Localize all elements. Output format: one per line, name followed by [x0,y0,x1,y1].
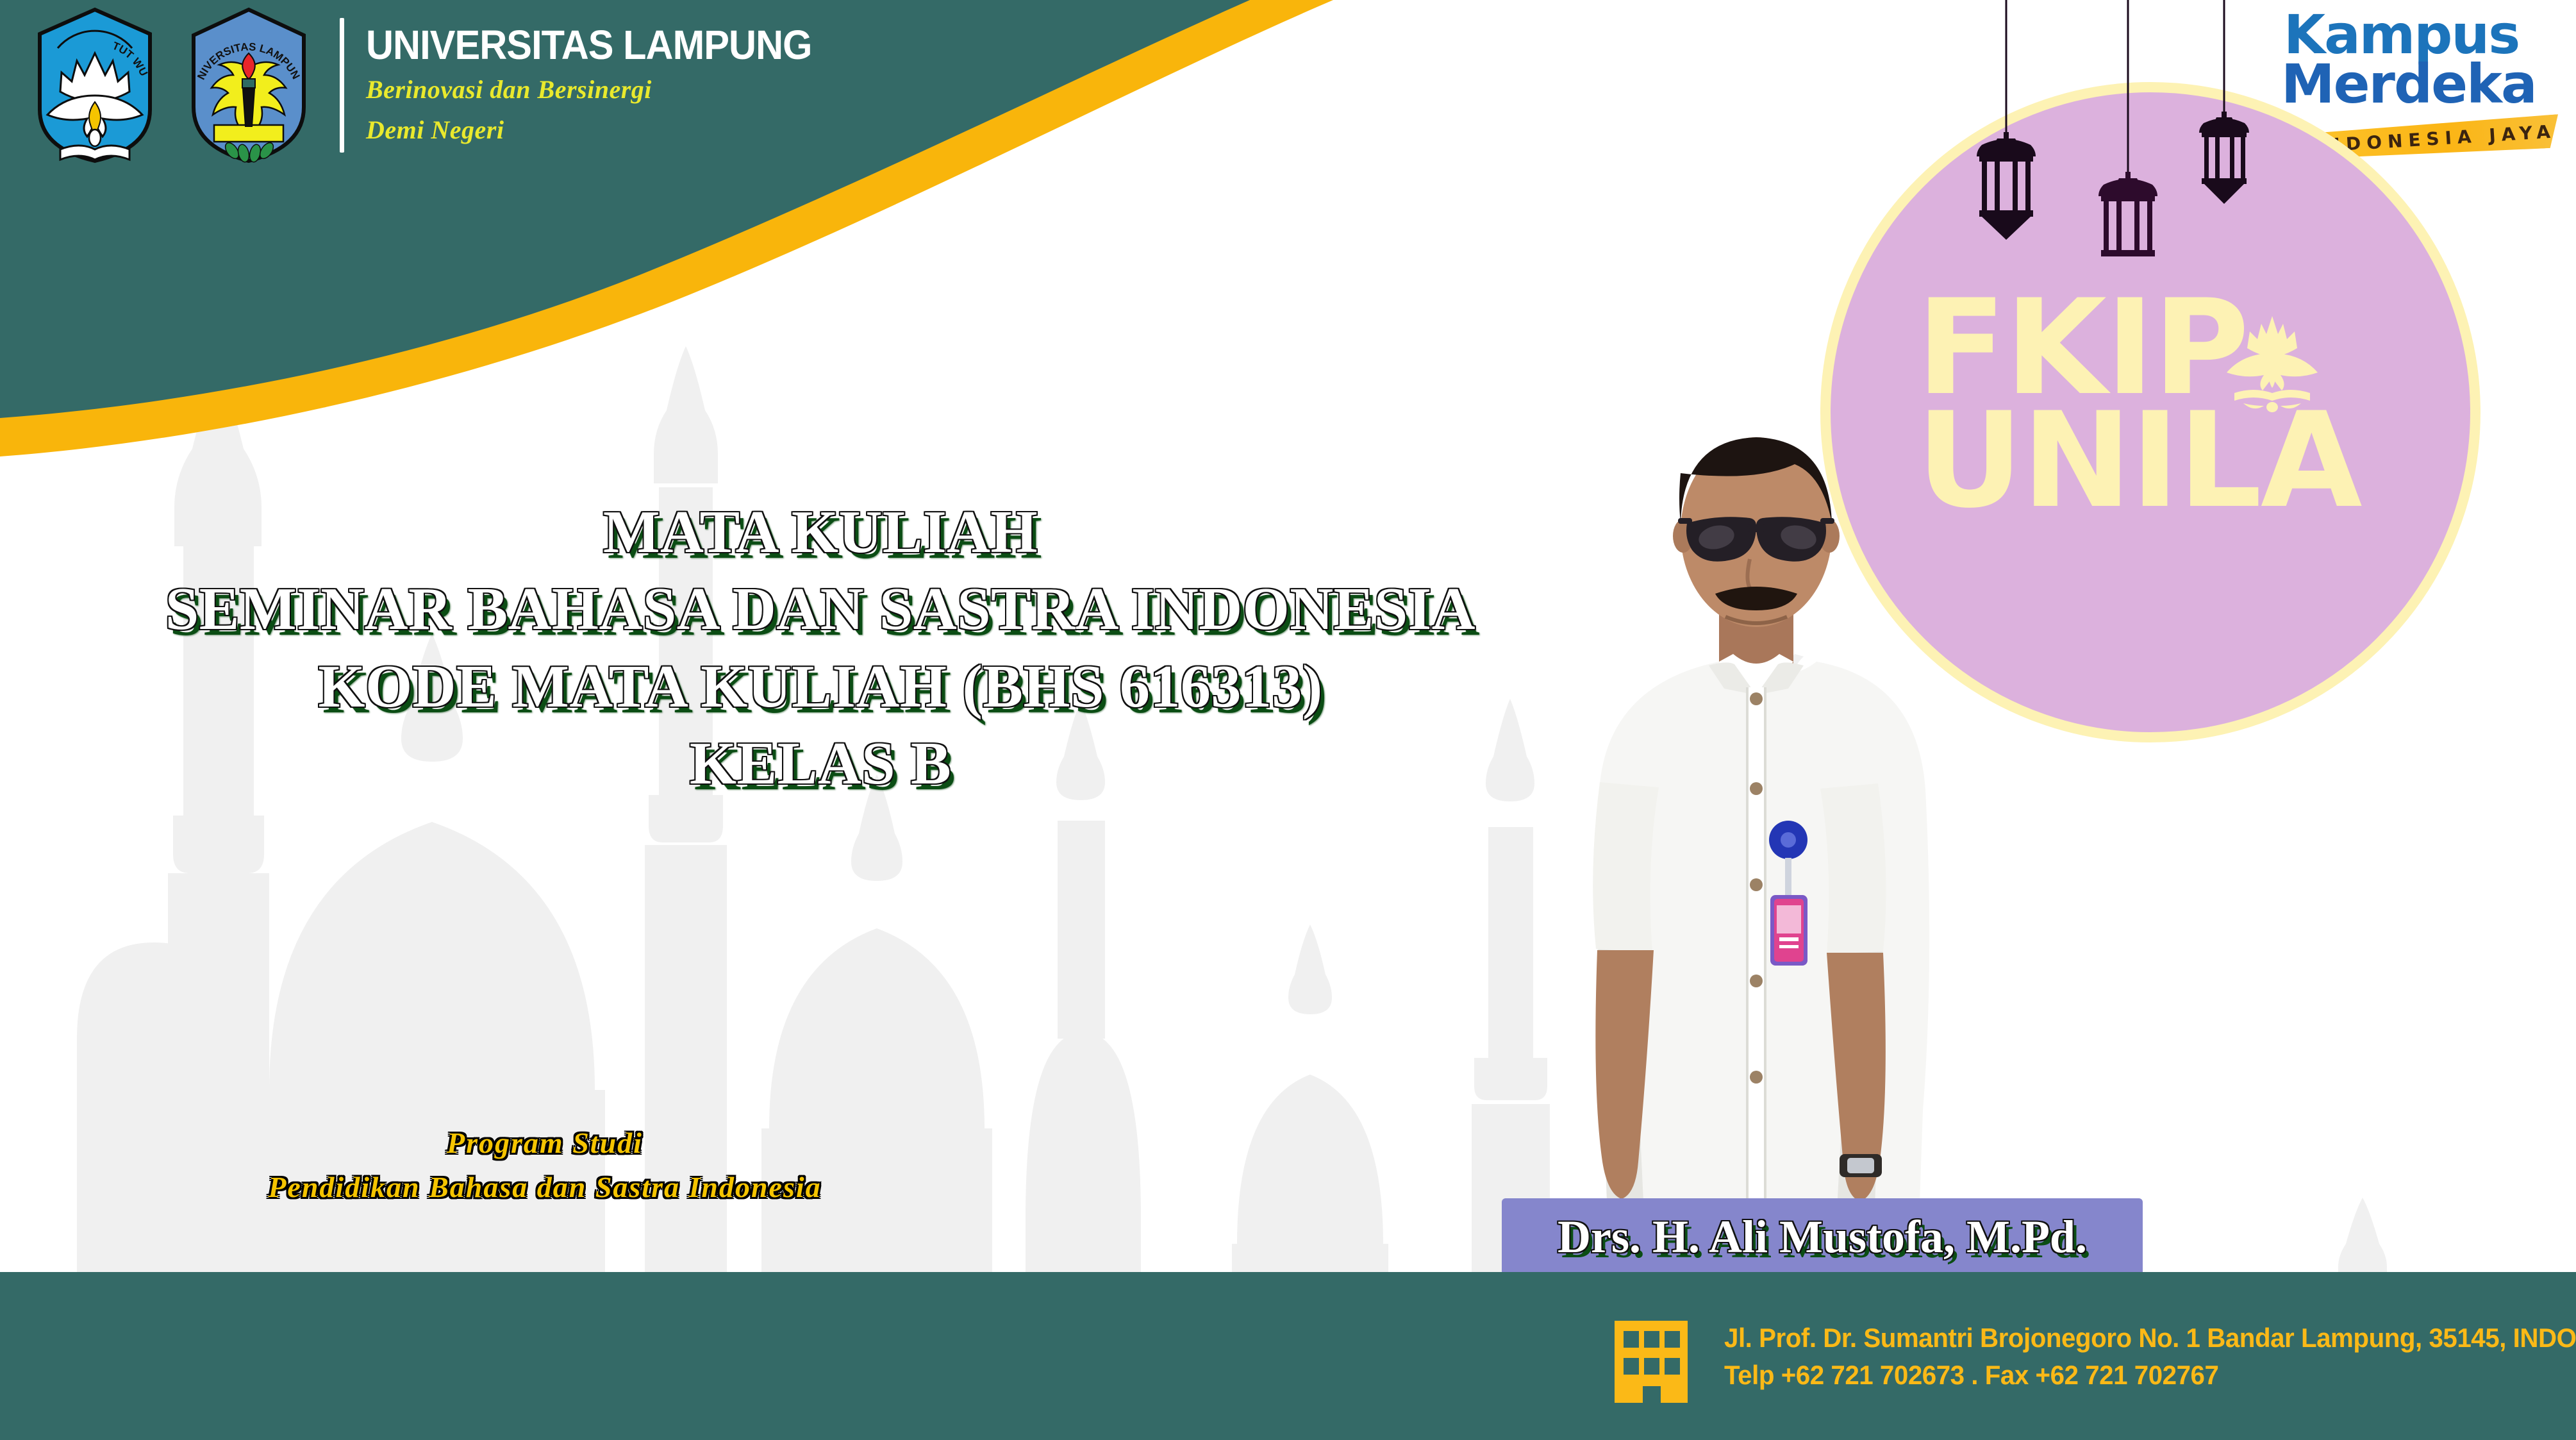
title-line-4: KELAS B [0,725,1641,802]
course-title-block: MATA KULIAH SEMINAR BAHASA DAN SASTRA IN… [0,494,1641,802]
hanging-lanterns-decoration [1910,0,2307,256]
presenter-photo [1558,398,1955,1295]
program-studi-block: Program Studi Pendidikan Bahasa dan Sast… [128,1121,961,1209]
presenter-name: Drs. H. Ali Mustofa, M.Pd. [1558,1210,2087,1264]
tut-wuri-handayani-logo: TUT WURI HANDAYANI [18,6,172,165]
university-name: UNIVERSITAS LAMPUNG [366,24,811,65]
footer-address: Jl. Prof. Dr. Sumantri Brojonegoro No. 1… [1724,1319,2576,1357]
program-studi-label: Program Studi [128,1121,961,1165]
lantern-icon [1977,132,2036,240]
title-line-1: MATA KULIAH [0,494,1641,571]
presenter-name-badge: Drs. H. Ali Mustofa, M.Pd. [1502,1198,2143,1275]
header-divider [340,18,344,153]
footer-contact: Telp +62 721 702673 . Fax +62 721 702767 [1724,1357,2576,1394]
fkip-unila-text: FKIP UNILA [1916,292,2404,518]
university-tagline-line1: Berinovasi dan Bersinergi [366,73,845,106]
title-line-3: KODE MATA KULIAH (BHS 616313) [0,648,1641,725]
tut-wuri-emblem-icon [2218,311,2327,414]
presentation-slide: TUT WURI HANDAYANI UNIVERSITAS LAMPUNG [0,0,2576,1440]
title-line-2: SEMINAR BAHASA DAN SASTRA INDONESIA [0,571,1641,648]
university-name-block: UNIVERSITAS LAMPUNG Berinovasi dan Bersi… [366,8,845,162]
university-tagline-line2: Demi Negeri [366,113,845,146]
program-studi-name: Pendidikan Bahasa dan Sastra Indonesia [128,1165,961,1209]
footer-contact-block: Jl. Prof. Dr. Sumantri Brojonegoro No. 1… [1724,1319,2576,1394]
building-icon [1611,1316,1691,1403]
unila-label: UNILA [1916,405,2404,517]
universitas-lampung-logo: UNIVERSITAS LAMPUNG [172,6,326,165]
lantern-icon [2199,112,2249,204]
lantern-icon [2098,172,2157,256]
header-logo-row: TUT WURI HANDAYANI UNIVERSITAS LAMPUNG [18,5,845,165]
kampus-merdeka-line2: Merdeka [2281,60,2559,109]
